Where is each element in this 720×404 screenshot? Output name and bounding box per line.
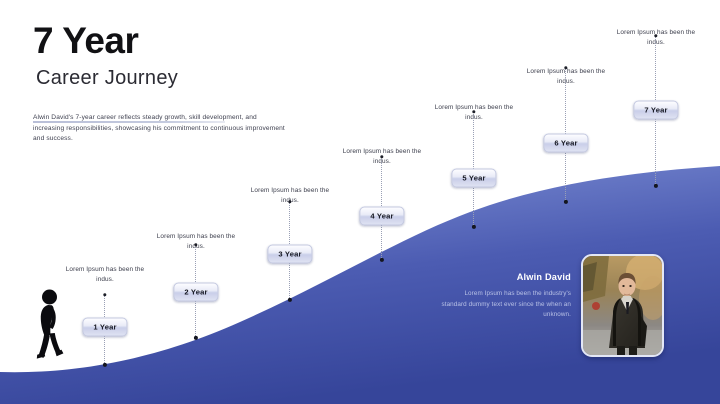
milestone-badge-1[interactable]: 1 Year: [82, 318, 127, 337]
milestone-badge-2[interactable]: 2 Year: [173, 283, 218, 302]
profile-name: Alwin David: [451, 272, 571, 282]
milestone-badge-6[interactable]: 6 Year: [543, 134, 588, 153]
page-header: 7 Year Career Journey: [33, 22, 353, 90]
page-subtitle: Career Journey: [36, 66, 353, 90]
milestone-badge-4[interactable]: 4 Year: [359, 207, 404, 226]
page-title: 7 Year: [33, 22, 353, 60]
milestone-badge-3[interactable]: 3 Year: [267, 245, 312, 264]
intro-paragraph: Alwin David's 7-year career reflects ste…: [33, 113, 289, 145]
profile-description: Lorem Ipsum has been the industry's stan…: [441, 289, 571, 321]
slide-canvas: 7 Year Career Journey Alwin David's 7-ye…: [0, 0, 720, 404]
milestone-badge-5[interactable]: 5 Year: [451, 169, 496, 188]
walking-person-icon: [34, 288, 64, 364]
profile-photo: [581, 254, 664, 357]
milestone-badge-7[interactable]: 7 Year: [633, 101, 678, 120]
milestone-caption: Lorem Ipsum has been the indus.: [60, 265, 150, 285]
